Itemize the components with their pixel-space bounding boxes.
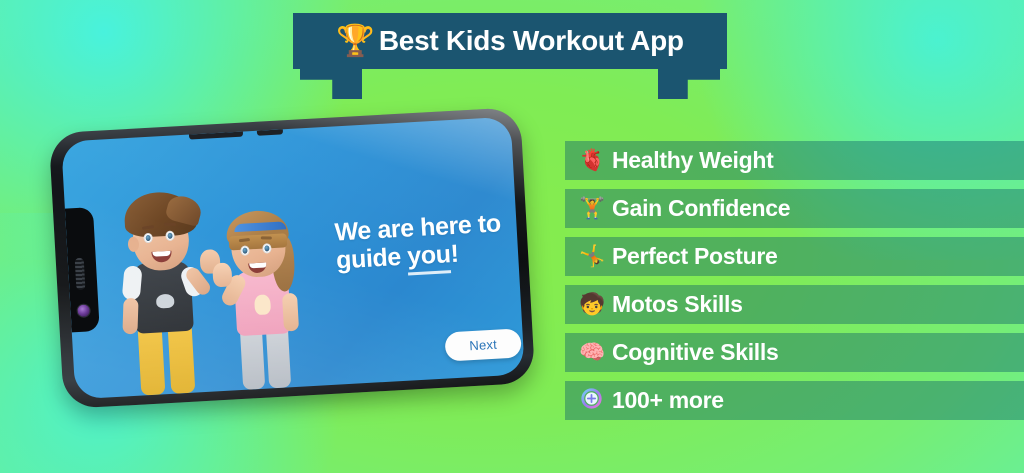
boy-leg-right xyxy=(167,323,195,394)
girl-waving-hand xyxy=(212,262,232,287)
head-with-brain-gears-icon: 🧠 xyxy=(579,342,603,363)
phone-screen: We are here to guide you! Next xyxy=(61,117,525,400)
feature-label: Cognitive Skills xyxy=(612,339,778,366)
onboarding-copy: We are here to guide you! xyxy=(334,208,525,275)
promo-banner-canvas: 🏆 Best Kids Workout App xyxy=(0,0,1024,473)
boy-leg-left xyxy=(138,324,166,395)
boy-shirt-logo xyxy=(156,294,175,309)
next-button[interactable]: Next xyxy=(444,328,522,361)
ribbon-banner: 🏆 Best Kids Workout App xyxy=(293,13,727,95)
boy-arm-left xyxy=(122,298,138,334)
girl-shirt-motif xyxy=(254,294,271,315)
feature-row-perfect-posture[interactable]: 🤸 Perfect Posture xyxy=(565,237,1024,276)
earpiece-speaker-icon xyxy=(75,258,86,290)
headline-underlined-word: you xyxy=(407,240,452,275)
ribbon-bar: 🏆 Best Kids Workout App xyxy=(293,13,727,69)
kids-illustration xyxy=(101,155,343,397)
feature-row-healthy-weight[interactable]: 🫀 Healthy Weight xyxy=(565,141,1024,180)
gymnast-pose-icon: 🤸 xyxy=(579,246,603,267)
boy-brow-right xyxy=(164,223,176,226)
girl-leg-right xyxy=(266,325,291,388)
feature-row-cognitive-skills[interactable]: 🧠 Cognitive Skills xyxy=(565,333,1024,372)
feature-label: Perfect Posture xyxy=(612,243,778,270)
heart-pulse-hand-icon: 🫀 xyxy=(579,150,603,171)
feature-label: Gain Confidence xyxy=(612,195,790,222)
feature-row-100-plus-more[interactable]: 100+ more xyxy=(565,381,1024,420)
phone-notch xyxy=(65,207,100,332)
feature-label: Healthy Weight xyxy=(612,147,774,174)
front-camera-icon xyxy=(76,303,91,318)
girl-character xyxy=(210,190,325,391)
feature-label: 100+ more xyxy=(612,387,724,414)
feature-row-motos-skills[interactable]: 🧒 Motos Skills xyxy=(565,285,1024,324)
feature-row-gain-confidence[interactable]: 🏋️ Gain Confidence xyxy=(565,189,1024,228)
girl-arm-right xyxy=(282,293,299,332)
girl-leg-left xyxy=(240,327,265,390)
feature-list: 🫀 Healthy Weight 🏋️ Gain Confidence 🤸 Pe… xyxy=(565,141,1024,429)
feature-label: Motos Skills xyxy=(612,291,743,318)
plus-circle-gradient-icon xyxy=(579,388,603,413)
child-with-rocket-icon: 🧒 xyxy=(579,294,603,315)
page-title: Best Kids Workout App xyxy=(379,25,684,57)
headline-line-2-prefix: guide xyxy=(335,243,408,275)
onboarding-headline: We are here to guide you! xyxy=(334,208,525,275)
headline-line-2-suffix: ! xyxy=(450,240,459,268)
phone-sensor-slot-secondary xyxy=(257,129,283,135)
trophy-icon: 🏆 xyxy=(336,25,375,56)
person-lifting-weights-icon: 🏋️ xyxy=(579,198,603,219)
girl-brow-right xyxy=(261,236,272,239)
phone-mockup: We are here to guide you! Next xyxy=(49,107,536,409)
